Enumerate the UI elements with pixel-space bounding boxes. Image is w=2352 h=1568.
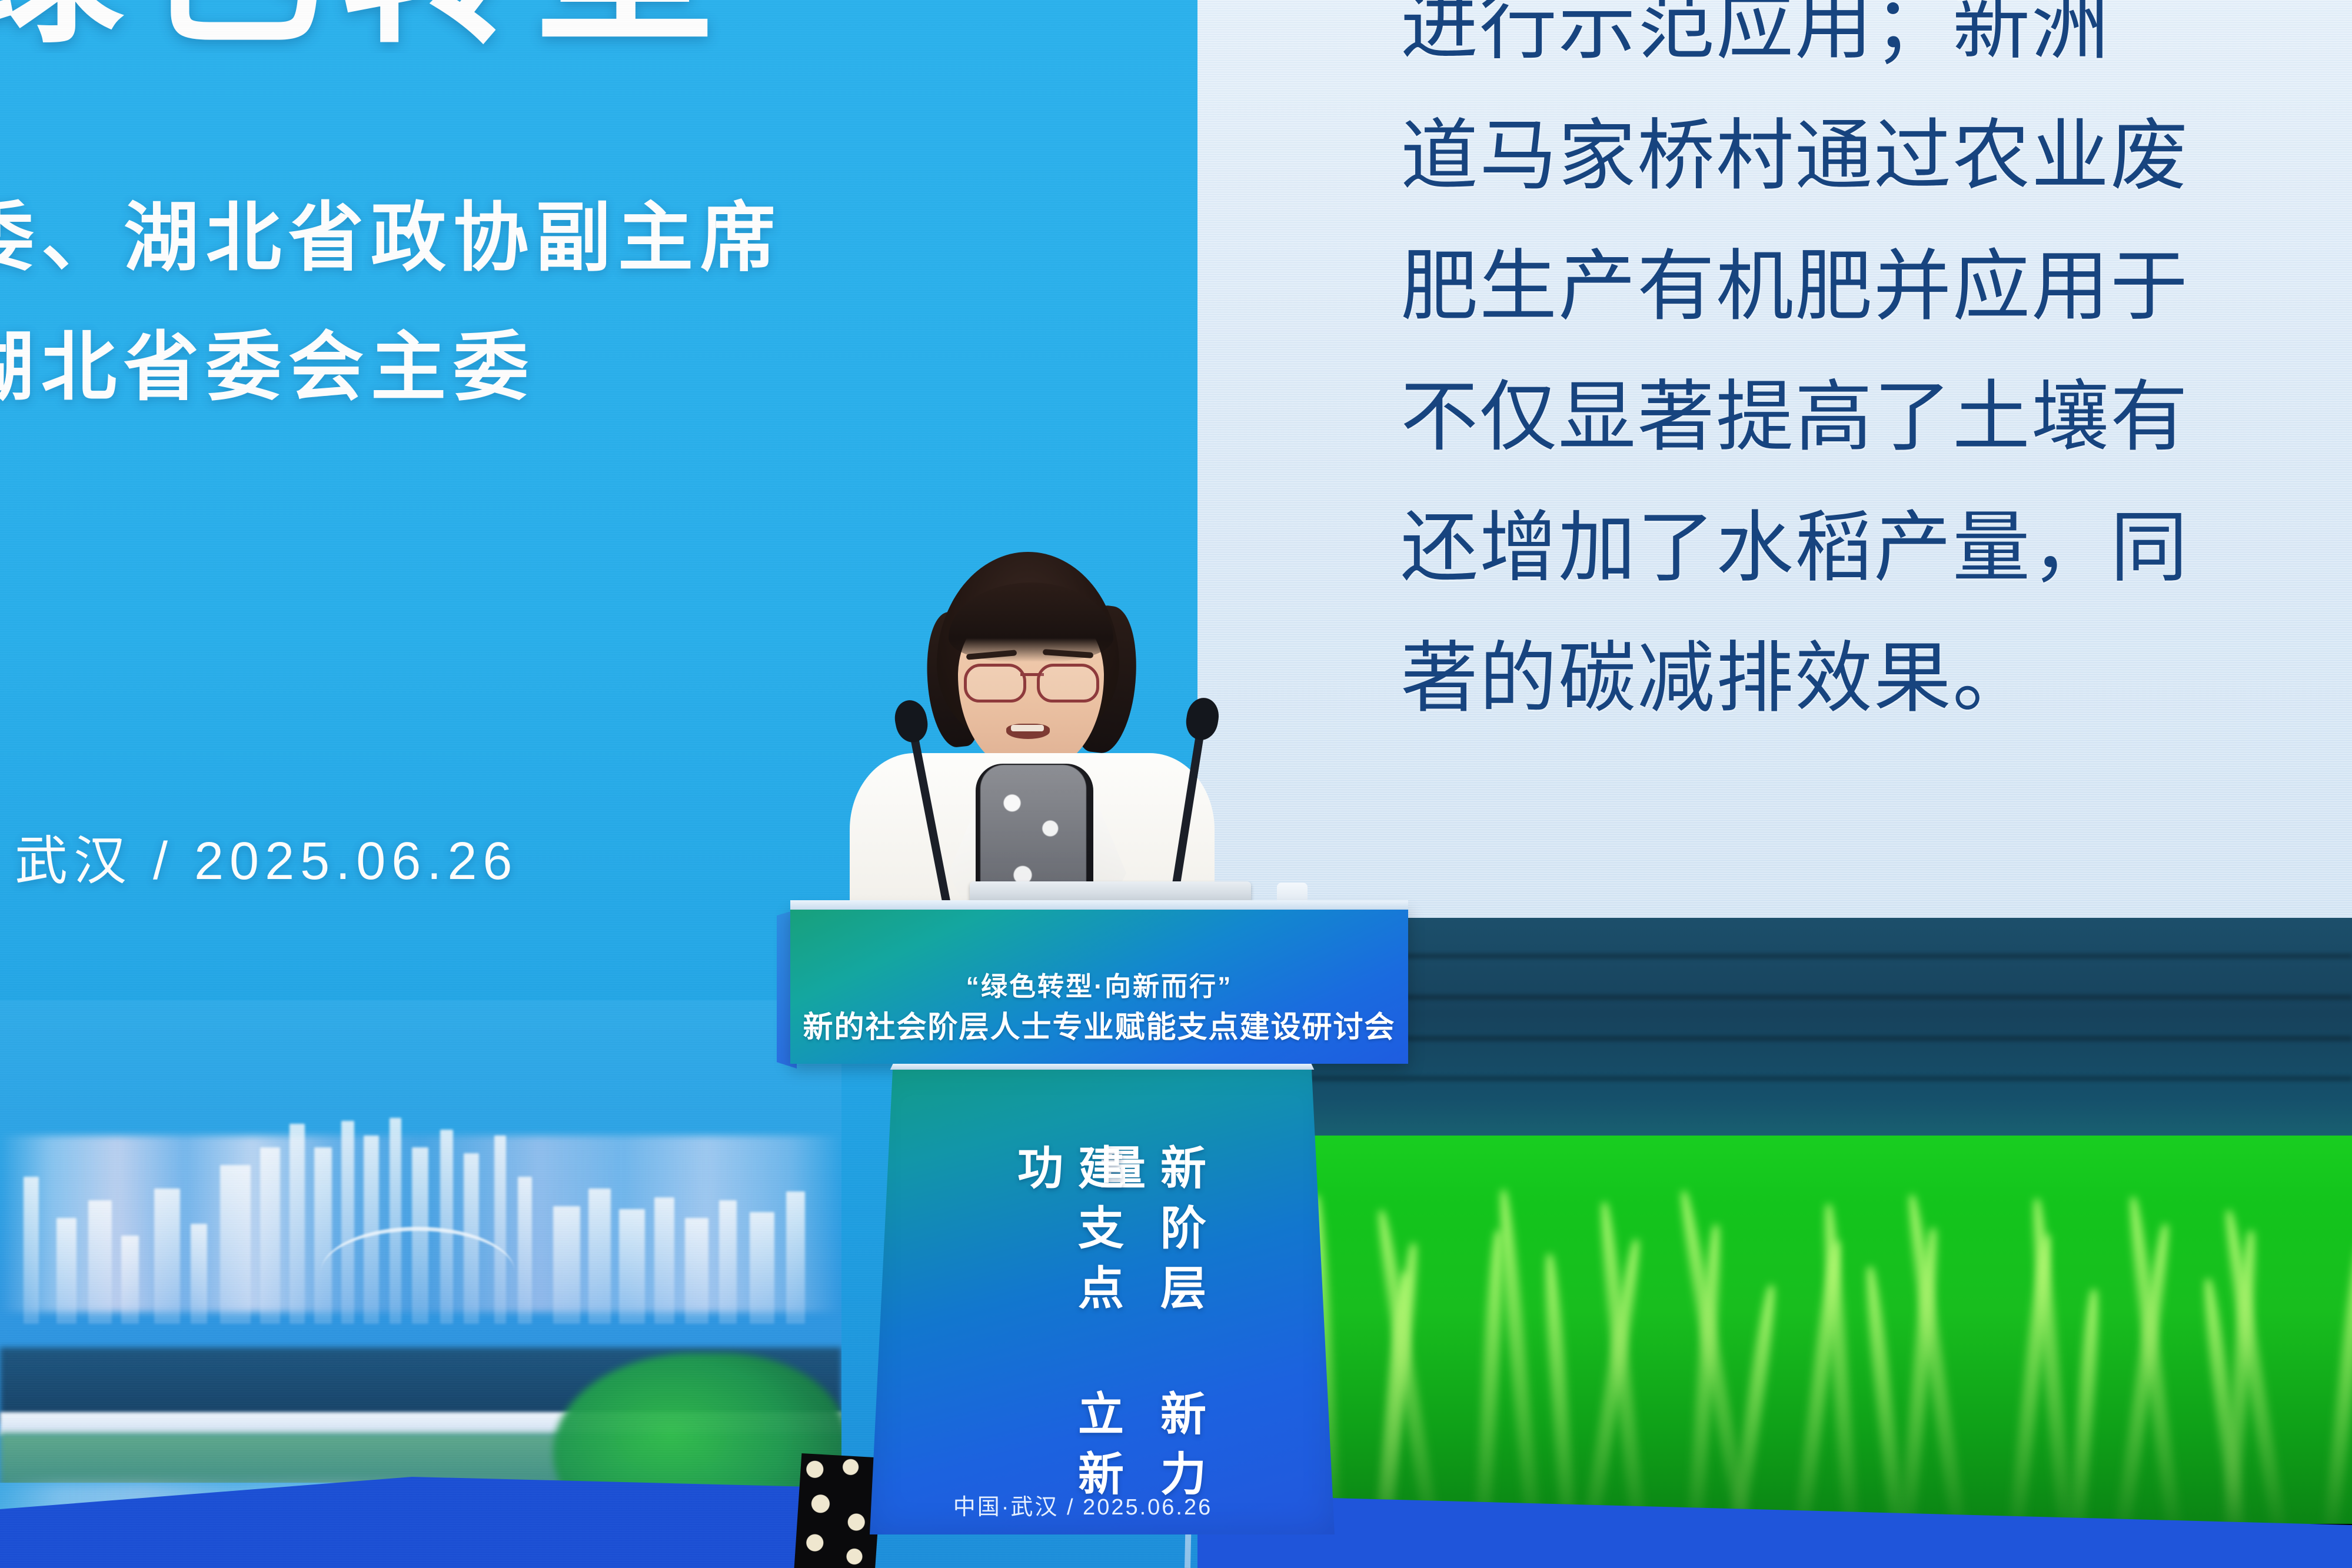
slide-line-6: 著的碳减排效果。 xyxy=(1400,613,2352,744)
podium-head-top-edge xyxy=(790,900,1408,910)
slide-text-block: 进行示范应用；新洲 道马家桥村通过农业废 肥生产有机肥并应用于 不仅显著提高了土… xyxy=(1400,0,2352,925)
backdrop-venue-date: · 武汉 / 2025.06.26 xyxy=(0,818,518,894)
mouth xyxy=(1006,724,1050,739)
conference-stage-photo: 绿色转型 委、湖北省政协副主席 湖北省委会主委 · 武汉 / 2025.06.2… xyxy=(0,0,2352,1568)
lens-left xyxy=(964,664,1026,703)
backdrop-credential-line-2: 湖北省委会主委 xyxy=(0,306,535,415)
slide-line-5: 还增加了水稻产量，同 xyxy=(1400,482,2352,613)
lens-right xyxy=(1037,664,1099,703)
slide-line-1: 进行示范应用；新洲 xyxy=(1400,0,2352,91)
artwork-towers xyxy=(0,1112,841,1324)
slide-line-3: 肥生产有机肥并应用于 xyxy=(1400,221,2352,352)
podium-title-quote: “绿色转型·向新而行” xyxy=(790,965,1408,1003)
floral-skirt xyxy=(789,1453,883,1568)
podium-title-main: 新的社会阶层人士专业赋能支点建设研讨会 xyxy=(790,1003,1408,1046)
podium-body-top-edge xyxy=(870,1064,1335,1070)
slide-line-2: 道马家桥村通过农业废 xyxy=(1400,91,2352,221)
backdrop-credential-line-1: 委、湖北省政协副主席 xyxy=(0,177,783,285)
slide-line-4: 不仅显著提高了土壤有 xyxy=(1400,352,2352,482)
eyeglasses xyxy=(964,664,1099,699)
podium-footer-venue-date: 中国·武汉 / 2025.06.26 xyxy=(918,1489,1247,1521)
rice-field-artwork xyxy=(1197,1136,2352,1524)
backdrop-headline-cropped: 绿色转型 xyxy=(0,0,830,53)
